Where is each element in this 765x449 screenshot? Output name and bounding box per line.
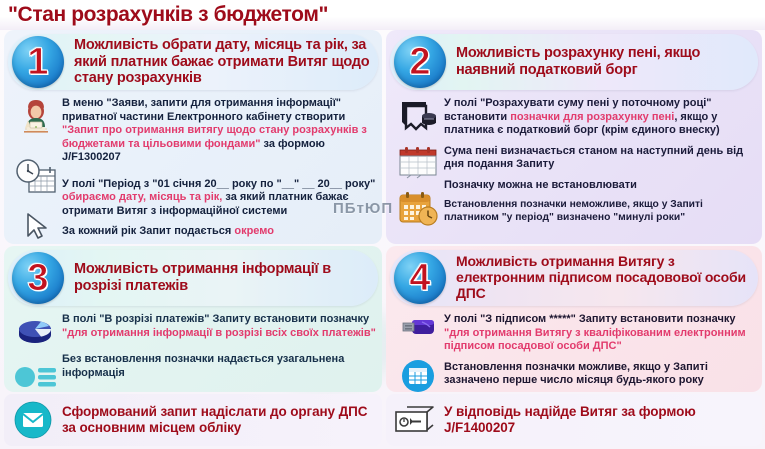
document-stamp-icon <box>396 97 440 137</box>
response-form-footer-text: У відповідь надійде Витяг за формою J/F1… <box>444 404 762 436</box>
quadrant-4-icon-column <box>392 313 444 392</box>
page-title: "Стан розрахунків з бюджетом" <box>8 3 328 27</box>
quadrant-4: 4 Можливість отримання Витягу з електрон… <box>386 246 762 392</box>
number-badge-2: 2 <box>394 36 446 88</box>
penalty-field-instruction: У полі "Розрахувати суму пені у поточном… <box>444 97 756 138</box>
quadrant-3-title: Можливість отримання інформації в розріз… <box>74 261 370 295</box>
cursor-arrow-icon <box>19 209 53 243</box>
number-badge-3-label: 3 <box>27 259 48 297</box>
period-instruction: У полі "Період з "01 січня 20__ року по … <box>62 178 376 219</box>
quadrant-1-body: В меню "Заяви, запити для отримання інфо… <box>4 90 382 244</box>
send-request-footer-text: Сформований запит надіслати до органу ДП… <box>62 404 382 436</box>
quadrant-4-body: У полі "З підписом *****" Запиту встанов… <box>386 306 762 392</box>
watermark: ПБтЮП <box>333 200 393 217</box>
number-badge-1-label: 1 <box>27 43 48 81</box>
quadrant-1-title: Можливість обрати дату, місяць та рік, з… <box>74 37 370 88</box>
quadrant-2-text-column: У полі "Розрахувати суму пені у поточном… <box>444 97 756 231</box>
infographic-root: "Стан розрахунків з бюджетом" 1 Можливіс… <box>0 0 765 449</box>
quadrant-1-icon-column <box>10 97 62 244</box>
quadrant-4-title: Можливість отримання Витягу з електронни… <box>456 254 750 301</box>
quadrant-1: 1 Можливість обрати дату, місяць та рік,… <box>4 30 382 244</box>
penalty-date-note: Сума пені визначається станом на наступн… <box>444 145 756 172</box>
documents-icon <box>386 401 444 439</box>
clock-calendar-icon <box>13 156 59 196</box>
quadrant-2-title: Можливість розрахунку пені, якщо наявний… <box>456 45 750 79</box>
calendar-clock-icon <box>396 187 440 227</box>
quadrant-2-icon-column <box>392 97 444 231</box>
first-day-restriction: Встановлення позначки можливе, якщо у За… <box>444 361 756 388</box>
quadrant-3-icon-column <box>10 313 62 390</box>
number-badge-2-label: 2 <box>409 43 430 81</box>
quadrant-1-header: 1 Можливість обрати дату, місяць та рік,… <box>8 34 378 90</box>
quadrant-4-text-column: У полі "З підписом *****" Запиту встанов… <box>444 313 756 392</box>
envelope-icon <box>4 399 62 441</box>
number-badge-3: 3 <box>12 252 64 304</box>
list-chart-icon <box>14 364 58 390</box>
number-badge-4-label: 4 <box>409 259 430 297</box>
quadrant-3: 3 Можливість отримання інформації в розр… <box>4 246 382 392</box>
yearly-request-note: За кожний рік Запит подається окремо <box>62 225 376 239</box>
past-years-restriction: Встановлення позначки неможливе, якщо у … <box>444 199 756 224</box>
person-at-laptop-icon <box>13 97 59 143</box>
quadrant-2-header: 2 Можливість розрахунку пені, якщо наявн… <box>390 34 758 90</box>
pie-chart-icon <box>14 313 58 351</box>
optional-mark-note: Позначку можна не встановлювати <box>444 179 756 193</box>
quadrant-3-text-column: В полі "В розрізі платежів" Запиту встан… <box>62 313 376 390</box>
quadrant-3-body: В полі "В розрізі платежів" Запиту встан… <box>4 306 382 390</box>
calendar-circle-icon <box>400 358 436 392</box>
number-badge-4: 4 <box>394 252 446 304</box>
number-badge-1: 1 <box>12 36 64 88</box>
quadrant-1-text-column: В меню "Заяви, запити для отримання інфо… <box>62 97 376 244</box>
page-title-bar: "Стан розрахунків з бюджетом" <box>0 0 765 30</box>
quadrant-4-header: 4 Можливість отримання Витягу з електрон… <box>390 250 758 306</box>
signature-field-instruction: У полі "З підписом *****" Запиту встанов… <box>444 313 756 354</box>
usb-token-icon <box>396 313 440 345</box>
quadrant-2: 2 Можливість розрахунку пені, якщо наявн… <box>386 30 762 244</box>
menu-instruction: В меню "Заяви, запити для отримання інфо… <box>62 97 376 165</box>
payments-breakdown-instruction: В полі "В розрізі платежів" Запиту встан… <box>62 313 376 340</box>
send-request-footer: Сформований запит надіслати до органу ДП… <box>4 394 382 446</box>
quadrant-2-body: У полі "Розрахувати суму пені у поточном… <box>386 90 762 231</box>
calendar-icon <box>395 143 441 181</box>
generalized-info-note: Без встановлення позначки надається узаг… <box>62 353 376 380</box>
response-form-footer: У відповідь надійде Витяг за формою J/F1… <box>386 394 762 446</box>
quadrant-3-header: 3 Можливість отримання інформації в розр… <box>8 250 378 306</box>
